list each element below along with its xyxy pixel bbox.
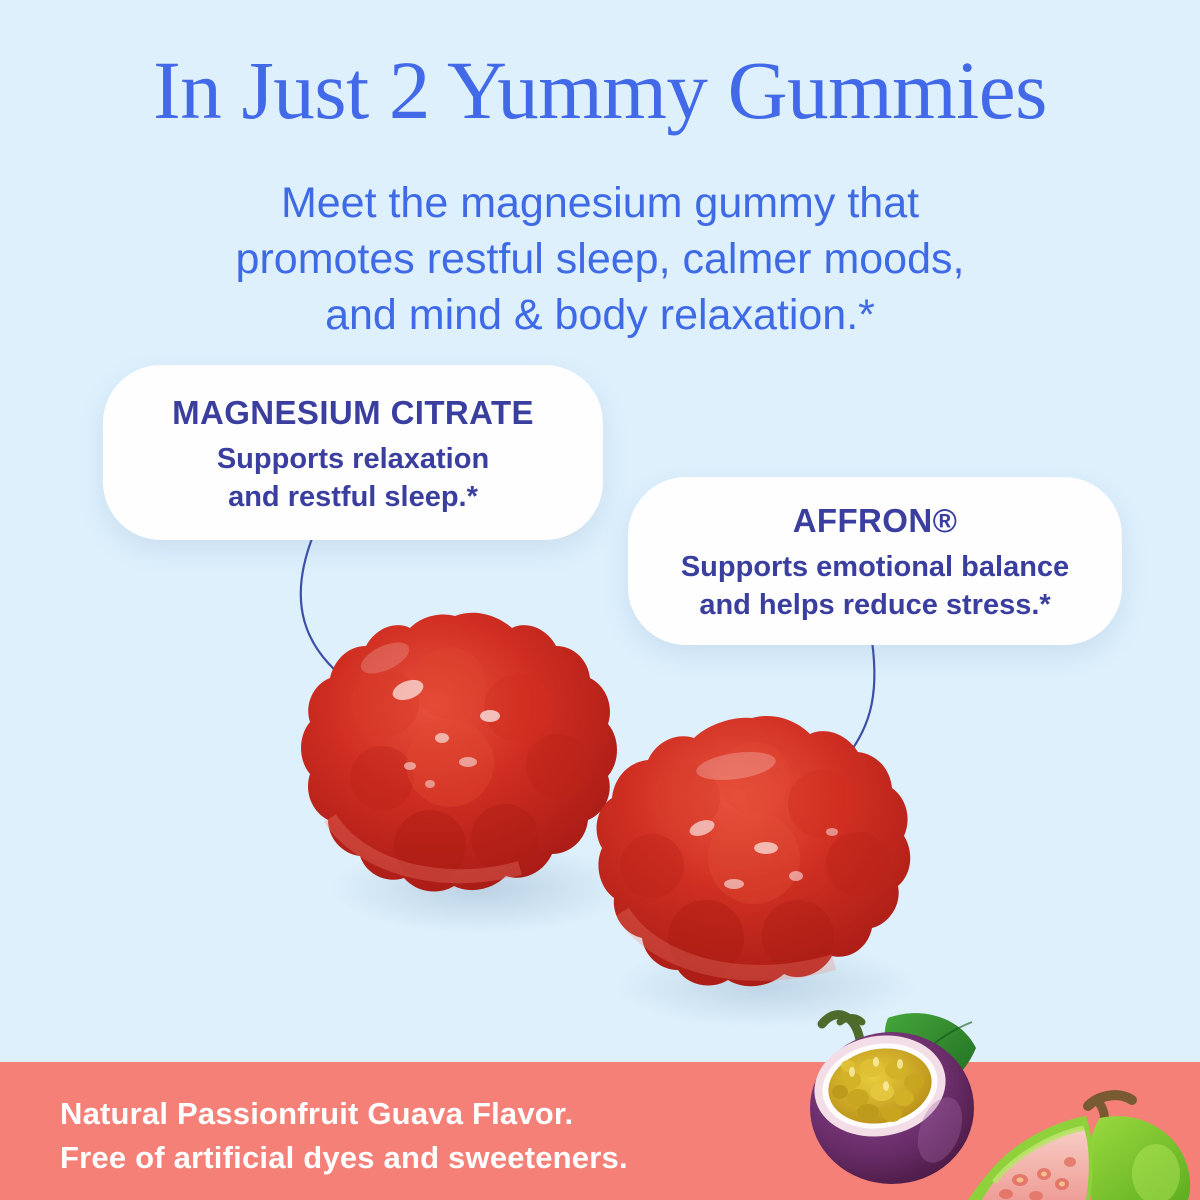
card-title-magnesium: MAGNESIUM CITRATE — [125, 395, 581, 431]
raspberry-gummy-icon — [586, 706, 916, 1026]
subtitle-line-3: and mind & body relaxation.* — [0, 288, 1200, 344]
card-body-line-1: Supports relaxation — [125, 441, 581, 479]
page-title: In Just 2 Yummy Gummies — [0, 48, 1200, 133]
page-subtitle: Meet the magnesium gummy that promotes r… — [0, 176, 1200, 344]
flavor-banner-text: Natural Passionfruit Guava Flavor. Free … — [60, 1092, 628, 1180]
guava-icon — [960, 1088, 1200, 1200]
callout-card-magnesium-citrate[interactable]: MAGNESIUM CITRATE Supports relaxation an… — [103, 365, 603, 540]
card-body-magnesium: Supports relaxation and restful sleep.* — [125, 441, 581, 516]
flavor-line-2: Free of artificial dyes and sweeteners. — [60, 1136, 628, 1180]
card-title-affron: AFFRON® — [648, 503, 1102, 539]
flavor-line-1: Natural Passionfruit Guava Flavor. — [60, 1092, 628, 1136]
subtitle-line-2: promotes restful sleep, calmer moods, — [0, 232, 1200, 288]
product-infographic: In Just 2 Yummy Gummies Meet the magnesi… — [0, 0, 1200, 1200]
card-body-line-1: Supports emotional balance — [648, 549, 1102, 587]
callout-card-affron[interactable]: AFFRON® Supports emotional balance and h… — [628, 477, 1122, 645]
card-body-line-2: and restful sleep.* — [125, 479, 581, 517]
raspberry-gummy-icon — [290, 598, 620, 938]
card-body-affron: Supports emotional balance and helps red… — [648, 549, 1102, 624]
gummy-right — [586, 706, 916, 1026]
subtitle-line-1: Meet the magnesium gummy that — [0, 176, 1200, 232]
card-body-line-2: and helps reduce stress.* — [648, 587, 1102, 625]
gummy-left — [290, 598, 620, 938]
stem-icon — [1088, 1095, 1132, 1106]
guava-image — [960, 1088, 1200, 1200]
